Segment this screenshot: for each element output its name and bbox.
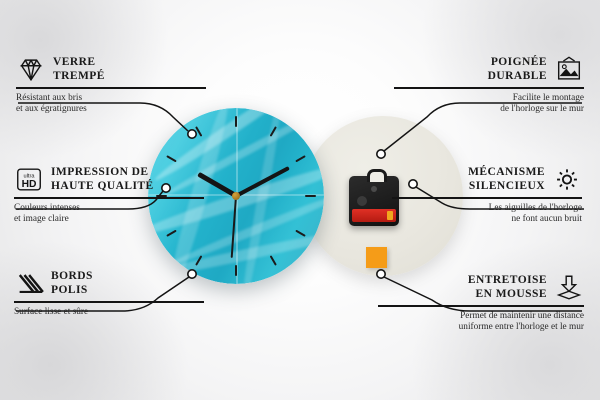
corner-vignette-bottom-left [0,240,190,400]
foam-spacer-icon [554,274,584,301]
mechanism-hanger-lug [367,169,387,182]
feature-subtitle: Résistant aux bris et aux égratignures [16,93,206,115]
feature-divider [16,87,206,89]
feature-subtitle: Couleurs intenses et image claire [14,203,204,225]
feature-title: IMPRESSION DE HAUTE QUALITÉ [51,166,154,193]
mechanism-battery [352,209,396,222]
feature-divider [378,305,584,307]
svg-text:HD: HD [22,179,37,190]
feature-divider [392,197,582,199]
mechanism-dial [357,196,367,206]
gear-icon [552,166,582,193]
feature-impression-haute-qualite[interactable]: ultra HD IMPRESSION DE HAUTE QUALITÉ Cou… [14,166,204,225]
feature-title: ENTRETOISE EN MOUSSE [468,274,547,301]
feature-title: MÉCANISME SILENCIEUX [468,166,545,193]
clock-center-pin [232,192,240,200]
polished-edges-icon [14,270,44,297]
feature-title: POIGNÉE DURABLE [488,56,547,83]
infographic-canvas: VERRE TREMPÉ Résistant aux bris et aux é… [0,0,600,400]
feature-subtitle: Les aiguilles de l'horloge ne font aucun… [392,203,582,225]
feature-poignee-durable[interactable]: POIGNÉE DURABLE Facilite le montage de l… [394,56,584,115]
clock-tick [236,195,316,197]
feature-entretoise-mousse[interactable]: ENTRETOISE EN MOUSSE Permet de maintenir… [378,274,584,333]
feature-verre-trempe[interactable]: VERRE TREMPÉ Résistant aux bris et aux é… [16,56,206,115]
feature-divider [394,87,584,89]
feature-subtitle: Surface lisse et sûre [14,307,204,318]
feature-title: BORDS POLIS [51,270,93,297]
feature-subtitle: Permet de maintenir une distance uniform… [378,311,584,333]
picture-hanger-icon [554,56,584,83]
clock-tick [235,116,237,196]
mechanism-shaft [371,186,377,192]
feature-divider [14,197,204,199]
feature-title: VERRE TREMPÉ [53,56,105,83]
feature-divider [14,301,204,303]
foam-spacer-sample [366,247,387,268]
feature-bords-polis[interactable]: BORDS POLIS Surface lisse et sûre [14,270,204,318]
feature-mecanisme-silencieux[interactable]: MÉCANISME SILENCIEUX Les aiguilles de l'… [392,166,582,225]
ultra-hd-icon: ultra HD [14,166,44,193]
feature-subtitle: Facilite le montage de l'horloge sur le … [394,93,584,115]
diamond-icon [16,56,46,83]
